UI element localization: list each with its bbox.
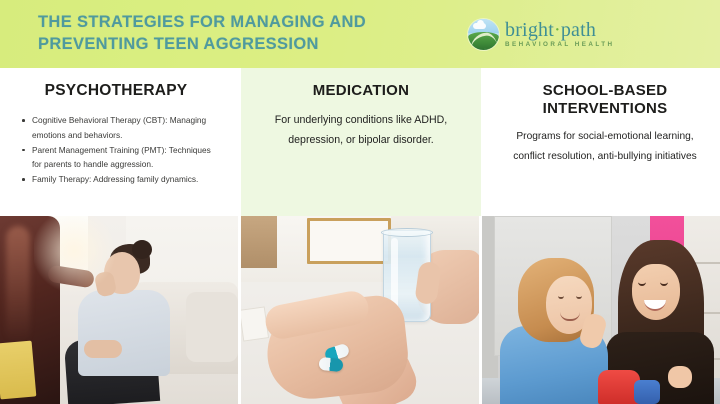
column-heading-school-based: SCHOOL-BASED INTERVENTIONS — [504, 82, 706, 117]
photo3-toy-blue — [634, 380, 660, 404]
page-title-line-2: PREVENTING TEEN AGGRESSION — [38, 34, 468, 56]
photo1-teen-hands — [84, 340, 122, 358]
column-heading-psychotherapy: PSYCHOTHERAPY — [14, 82, 218, 100]
photo1-clipboard — [0, 341, 36, 400]
column-heading-medication: MEDICATION — [255, 82, 467, 100]
content-columns: PSYCHOTHERAPY Cognitive Behavioral Thera… — [0, 68, 720, 216]
photo-medication-hand — [241, 216, 479, 404]
photo1-cushion — [186, 292, 238, 362]
column-psychotherapy: PSYCHOTHERAPY Cognitive Behavioral Thera… — [0, 68, 232, 216]
photo-therapy-session — [0, 216, 238, 404]
photo-strip — [0, 216, 720, 404]
photo2-picture-frame — [307, 218, 391, 264]
photo2-glass-rim — [381, 228, 433, 237]
logo-tagline: BEHAVIORAL HEALTH — [505, 42, 615, 48]
photo2-wood-edge — [241, 216, 277, 268]
column-divider-right — [481, 68, 490, 216]
brand-logo: bright·path BEHAVIORAL HEALTH — [468, 19, 615, 50]
slide-header: THE STRATEGIES FOR MANAGING AND PREVENTI… — [0, 0, 720, 68]
logo-word-row: bright·path — [505, 20, 615, 40]
logo-wordmark: bright·path BEHAVIORAL HEALTH — [505, 20, 615, 48]
list-item: Cognitive Behavioral Therapy (CBT): Mana… — [22, 113, 216, 142]
page-title: THE STRATEGIES FOR MANAGING AND PREVENTI… — [38, 12, 468, 56]
psychotherapy-bullet-list: Cognitive Behavioral Therapy (CBT): Mana… — [14, 113, 218, 186]
slide-canvas: THE STRATEGIES FOR MANAGING AND PREVENTI… — [0, 0, 720, 404]
photo3-adult-face — [632, 264, 680, 320]
column-medication: MEDICATION For underlying conditions lik… — [241, 68, 481, 216]
photo2-capsule-teal-2 — [318, 357, 343, 372]
photo3-reaching-hand — [668, 366, 692, 388]
column-heading-line-1: SCHOOL-BASED — [543, 82, 668, 99]
photo1-adult-highlight — [6, 226, 30, 344]
logo-circle-icon — [468, 19, 499, 50]
logo-separator-dot: · — [554, 19, 561, 41]
page-title-line-1: THE STRATEGIES FOR MANAGING AND — [38, 13, 366, 31]
list-item: Family Therapy: Addressing family dynami… — [22, 172, 216, 186]
photo1-teen-hair-bun — [132, 240, 152, 259]
column-divider-left — [232, 68, 241, 216]
list-item: Parent Management Training (PMT): Techni… — [22, 143, 216, 172]
photo2-glass-highlight — [391, 238, 398, 310]
column-heading-line-2: INTERVENTIONS — [504, 100, 706, 118]
column-body-school-based: Programs for social-emotional learning, … — [504, 127, 706, 166]
logo-word-path: path — [561, 19, 596, 41]
logo-word-bright: bright — [505, 19, 554, 41]
photo1-window-glow — [34, 216, 114, 296]
logo-cloud-icon — [473, 23, 486, 29]
column-body-medication: For underlying conditions like ADHD, dep… — [255, 110, 467, 151]
column-school-based-interventions: SCHOOL-BASED INTERVENTIONS Programs for … — [490, 68, 720, 216]
photo-classroom — [482, 216, 720, 404]
photo1-teen-torso — [78, 290, 170, 376]
